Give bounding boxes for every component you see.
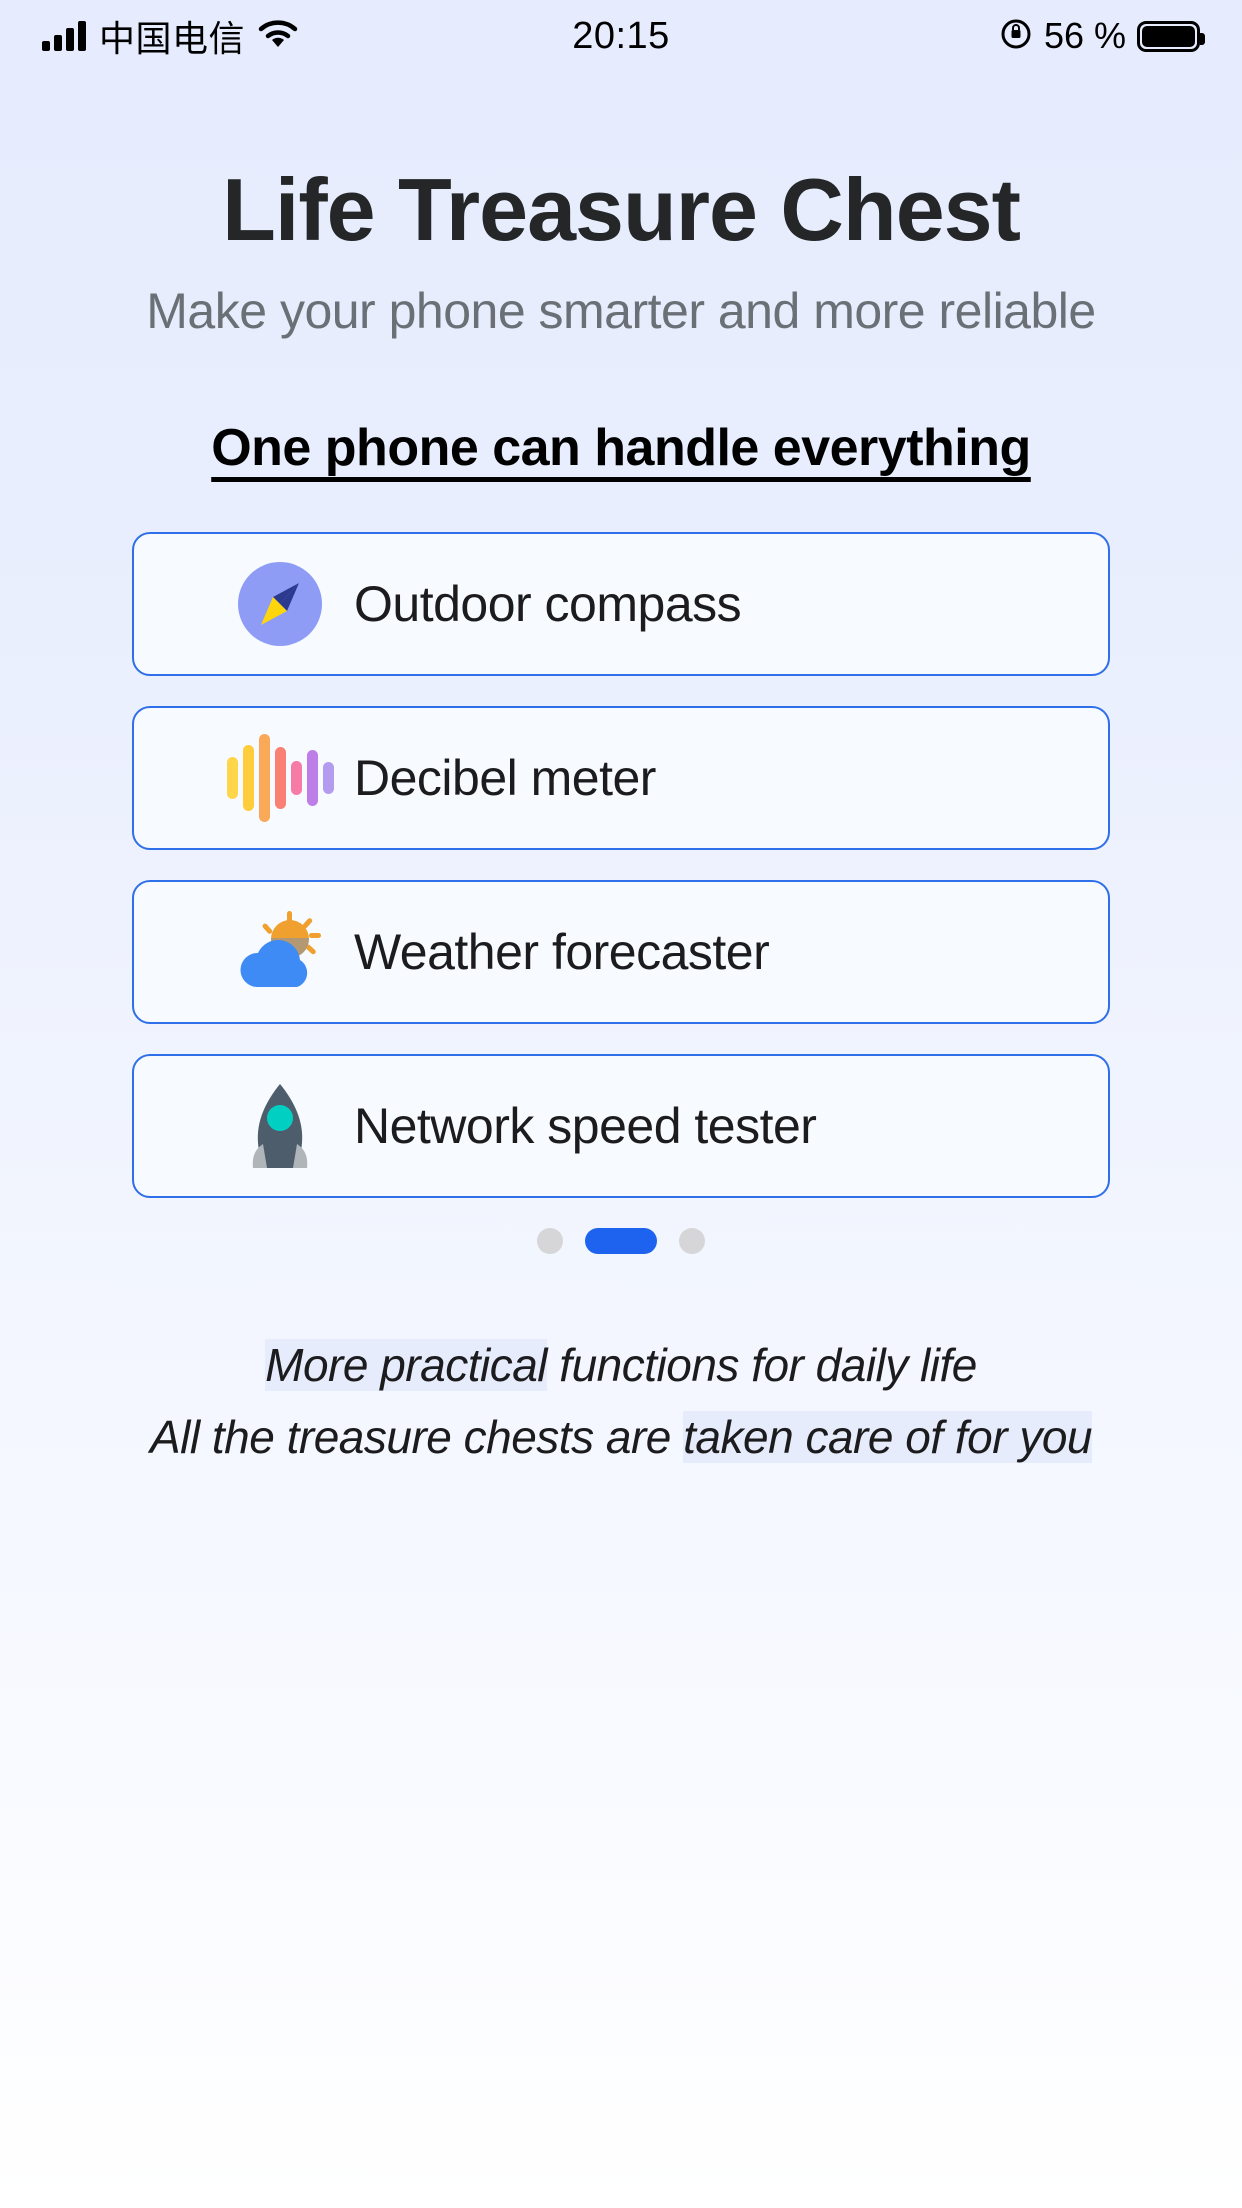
status-bar: 中国电信 20:15 56 % bbox=[0, 0, 1242, 72]
status-bar-right: 56 % bbox=[999, 15, 1200, 57]
page-dot-2-active[interactable] bbox=[585, 1228, 657, 1254]
feature-card-list: Outdoor compass Decibel meter bbox=[0, 532, 1242, 1198]
feature-card-label: Decibel meter bbox=[354, 749, 656, 807]
feature-card-weather-forecaster[interactable]: Weather forecaster bbox=[132, 880, 1110, 1024]
carrier-label: 中国电信 bbox=[99, 10, 245, 62]
cellular-signal-icon bbox=[42, 21, 86, 51]
page-title: Life Treasure Chest bbox=[0, 164, 1242, 256]
feature-card-decibel-meter[interactable]: Decibel meter bbox=[132, 706, 1110, 850]
feature-card-label: Outdoor compass bbox=[354, 575, 741, 633]
battery-percent-label: 56 % bbox=[1044, 15, 1126, 57]
status-bar-left: 中国电信 bbox=[42, 10, 298, 62]
sun-cloud-icon bbox=[234, 906, 326, 998]
page-dot-3[interactable] bbox=[679, 1228, 705, 1254]
wifi-icon bbox=[258, 19, 298, 54]
clock-label: 20:15 bbox=[572, 15, 670, 58]
page-dot-1[interactable] bbox=[537, 1228, 563, 1254]
footer-line-1-rest: functions for daily life bbox=[547, 1339, 977, 1391]
feature-card-network-speed-tester[interactable]: Network speed tester bbox=[132, 1054, 1110, 1198]
footer-tagline: More practical functions for daily life … bbox=[0, 1330, 1242, 1473]
feature-card-label: Network speed tester bbox=[354, 1097, 816, 1155]
feature-card-label: Weather forecaster bbox=[354, 923, 769, 981]
footer-line-2: All the treasure chests are taken care o… bbox=[0, 1402, 1242, 1473]
rotation-lock-icon bbox=[999, 17, 1033, 56]
compass-icon bbox=[234, 558, 326, 650]
page-indicator[interactable] bbox=[0, 1228, 1242, 1254]
section-heading: One phone can handle everything bbox=[0, 418, 1242, 478]
feature-card-outdoor-compass[interactable]: Outdoor compass bbox=[132, 532, 1110, 676]
rocket-icon bbox=[234, 1080, 326, 1172]
page-header: Life Treasure Chest Make your phone smar… bbox=[0, 164, 1242, 340]
page-subtitle: Make your phone smarter and more reliabl… bbox=[0, 282, 1242, 340]
footer-line-1: More practical functions for daily life bbox=[0, 1330, 1242, 1401]
footer-line-2-start: All the treasure chests are bbox=[150, 1411, 683, 1463]
footer-line-1-highlight: More practical bbox=[265, 1339, 547, 1391]
battery-icon bbox=[1137, 21, 1200, 52]
footer-line-2-highlight: taken care of for you bbox=[683, 1411, 1092, 1463]
sound-wave-icon bbox=[234, 732, 326, 824]
